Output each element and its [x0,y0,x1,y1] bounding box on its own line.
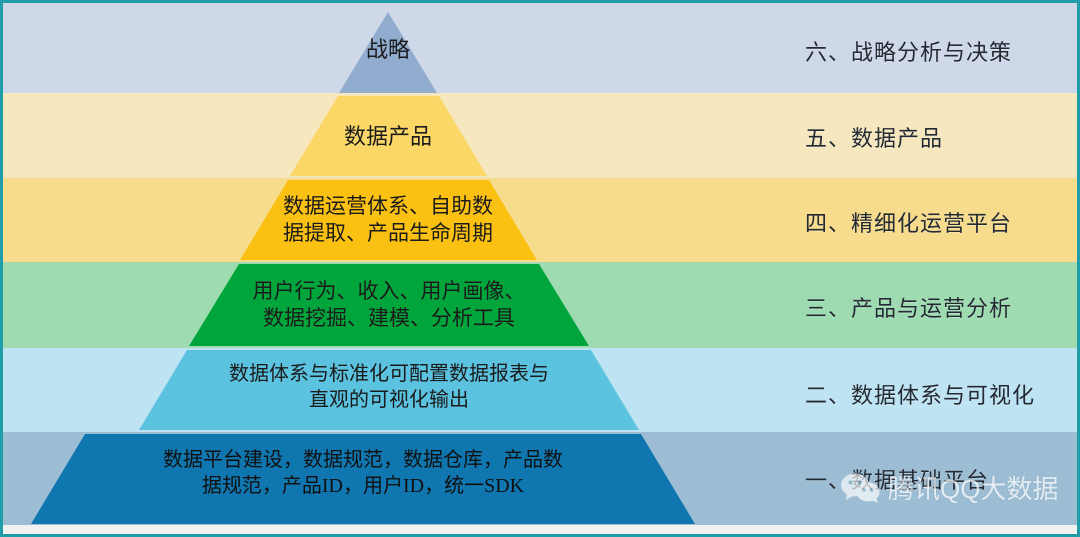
pyramid-text-data-foundation: 数据平台建设，数据规范，数据仓库，产品数 据规范，产品ID，用户ID，统一SDK [63,448,663,499]
pyramid-text-data-product: 数据产品 [288,123,488,151]
pyramid-text-operation-platform: 数据运营体系、自助数 据提取、产品生命周期 [239,193,537,247]
pyramid-diagram-canvas: 六、战略分析与决策 五、数据产品 四、精细化运营平台 三、产品与运营分析 二、数… [0,0,1080,537]
pyramid-text-product-operation-analysis: 用户行为、收入、用户画像、 数据挖掘、建模、分析工具 [189,278,589,332]
watermark-text: 腾讯QQ大数据 [888,469,1058,506]
bottom-strip [3,525,1077,534]
pyramid-shape: 战略 数据产品 数据运营体系、自助数 据提取、产品生命周期 用户行为、收入、用户… [3,3,1077,534]
wechat-watermark: 腾讯QQ大数据 [839,469,1058,506]
pyramid-text-data-system-visualization: 数据体系与标准化可配置数据报表与 直观的可视化输出 [139,362,639,413]
wechat-icon [839,472,881,504]
pyramid-text-strategy: 战略 [338,36,438,64]
